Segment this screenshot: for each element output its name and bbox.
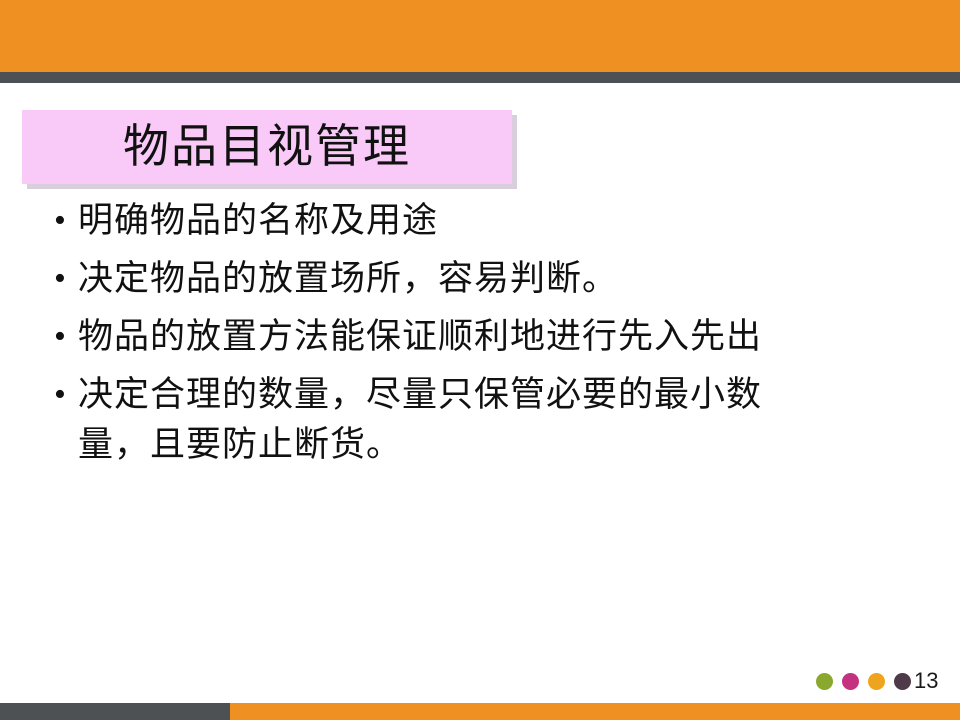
page-title: 物品目视管理 xyxy=(22,110,512,184)
list-item-label: 明确物品的名称及用途 xyxy=(78,196,936,246)
list-item-label: 决定合理的数量，尽量只保管必要的最小数 xyxy=(78,375,762,414)
list-item: • 物品的放置方法能保证顺利地进行先入先出 xyxy=(46,312,936,362)
list-item-label-continuation: 量，且要防止断货。 xyxy=(78,420,936,470)
bullet-marker-icon: • xyxy=(46,312,78,362)
bullet-marker-icon: • xyxy=(46,254,78,304)
top-gray-stripe xyxy=(0,72,960,83)
dot-purple-icon xyxy=(894,673,911,690)
dot-magenta-icon xyxy=(842,673,859,690)
slide-title-plaque: 物品目视管理 xyxy=(22,110,512,184)
page-number: 13 xyxy=(914,668,938,694)
decorative-dot-group xyxy=(816,673,911,690)
bullet-list: • 明确物品的名称及用途 • 决定物品的放置场所，容易判断。 • 物品的放置方法… xyxy=(46,196,936,478)
bottom-orange-stripe xyxy=(230,703,960,720)
dot-orange-icon xyxy=(868,673,885,690)
dot-green-icon xyxy=(816,673,833,690)
list-item: • 决定合理的数量，尽量只保管必要的最小数量，且要防止断货。 xyxy=(46,370,936,470)
bullet-marker-icon: • xyxy=(46,370,78,420)
bullet-marker-icon: • xyxy=(46,196,78,246)
list-item-label: 物品的放置方法能保证顺利地进行先入先出 xyxy=(78,312,936,362)
list-item-label-wrap: 决定合理的数量，尽量只保管必要的最小数量，且要防止断货。 xyxy=(78,370,936,470)
list-item: • 明确物品的名称及用途 xyxy=(46,196,936,246)
presentation-slide: 物品目视管理 • 明确物品的名称及用途 • 决定物品的放置场所，容易判断。 • … xyxy=(0,0,960,720)
bottom-gray-stripe xyxy=(0,703,230,720)
list-item: • 决定物品的放置场所，容易判断。 xyxy=(46,254,936,304)
top-orange-banner xyxy=(0,0,960,72)
list-item-label: 决定物品的放置场所，容易判断。 xyxy=(78,254,936,304)
